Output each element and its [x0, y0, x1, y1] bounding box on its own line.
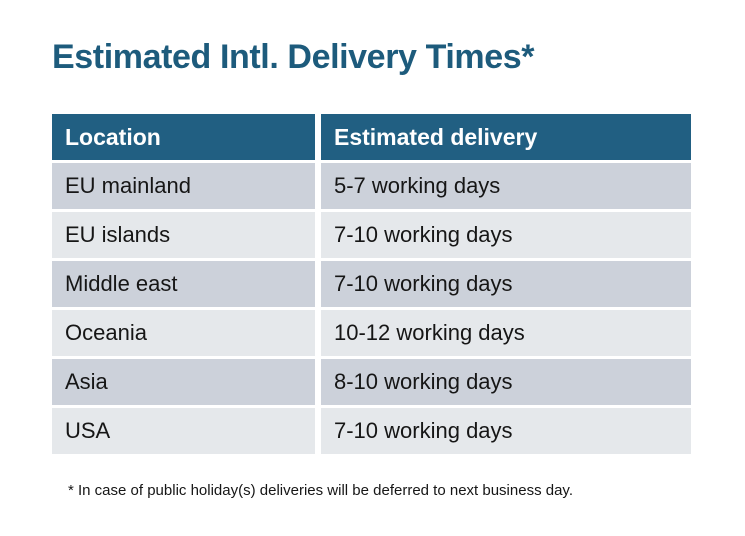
table-row: Oceania 10-12 working days — [52, 310, 691, 356]
table-row: USA 7-10 working days — [52, 408, 691, 454]
cell-location: USA — [52, 408, 315, 454]
cell-location: Middle east — [52, 261, 315, 307]
column-header-location: Location — [52, 114, 315, 160]
page-title: Estimated Intl. Delivery Times* — [52, 36, 534, 78]
table-row: EU islands 7-10 working days — [52, 212, 691, 258]
column-header-estimated-delivery: Estimated delivery — [321, 114, 691, 160]
cell-location: Oceania — [52, 310, 315, 356]
cell-location: EU islands — [52, 212, 315, 258]
table-row: Asia 8-10 working days — [52, 359, 691, 405]
table-header-row: Location Estimated delivery — [52, 114, 691, 160]
cell-estimated-delivery: 8-10 working days — [321, 359, 691, 405]
table-row: EU mainland 5-7 working days — [52, 163, 691, 209]
cell-estimated-delivery: 5-7 working days — [321, 163, 691, 209]
cell-estimated-delivery: 10-12 working days — [321, 310, 691, 356]
cell-location: Asia — [52, 359, 315, 405]
cell-estimated-delivery: 7-10 working days — [321, 261, 691, 307]
footnote-text: * In case of public holiday(s) deliverie… — [68, 481, 573, 501]
cell-location: EU mainland — [52, 163, 315, 209]
delivery-times-panel: Estimated Intl. Delivery Times* Location… — [0, 0, 745, 536]
table-row: Middle east 7-10 working days — [52, 261, 691, 307]
cell-estimated-delivery: 7-10 working days — [321, 408, 691, 454]
delivery-times-table: Location Estimated delivery EU mainland … — [52, 114, 691, 457]
cell-estimated-delivery: 7-10 working days — [321, 212, 691, 258]
